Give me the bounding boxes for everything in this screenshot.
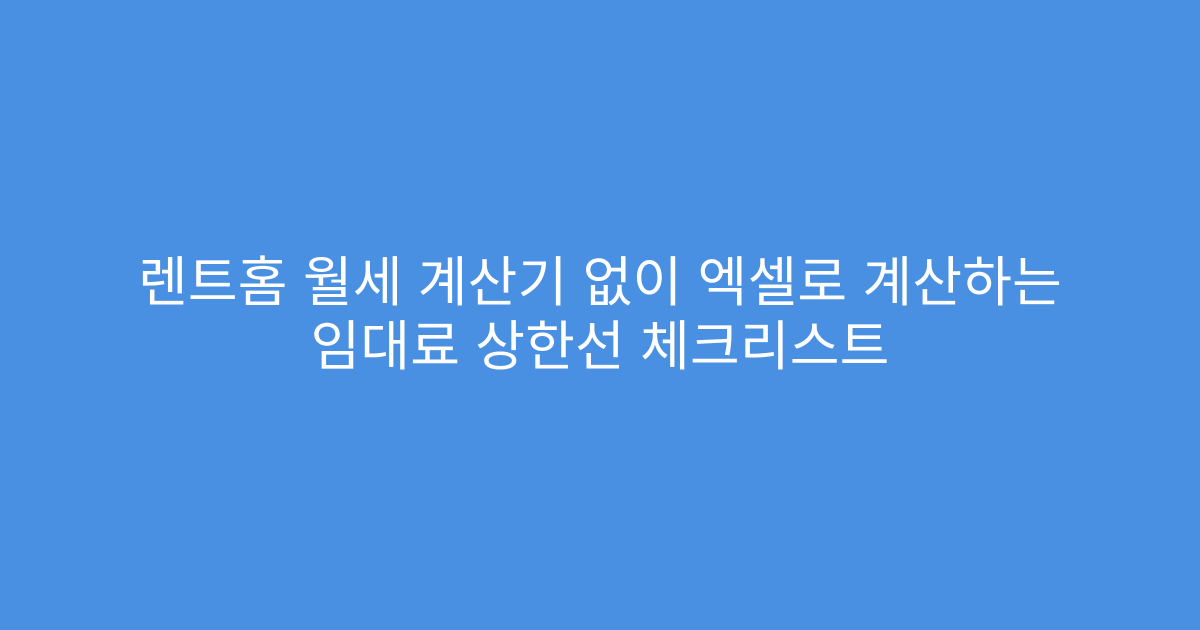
title-block: 렌트홈 월세 계산기 없이 엑셀로 계산하는 임대료 상한선 체크리스트 (70, 251, 1130, 379)
og-card-canvas: 렌트홈 월세 계산기 없이 엑셀로 계산하는 임대료 상한선 체크리스트 (0, 0, 1200, 630)
page-title: 렌트홈 월세 계산기 없이 엑셀로 계산하는 임대료 상한선 체크리스트 (78, 251, 1122, 379)
